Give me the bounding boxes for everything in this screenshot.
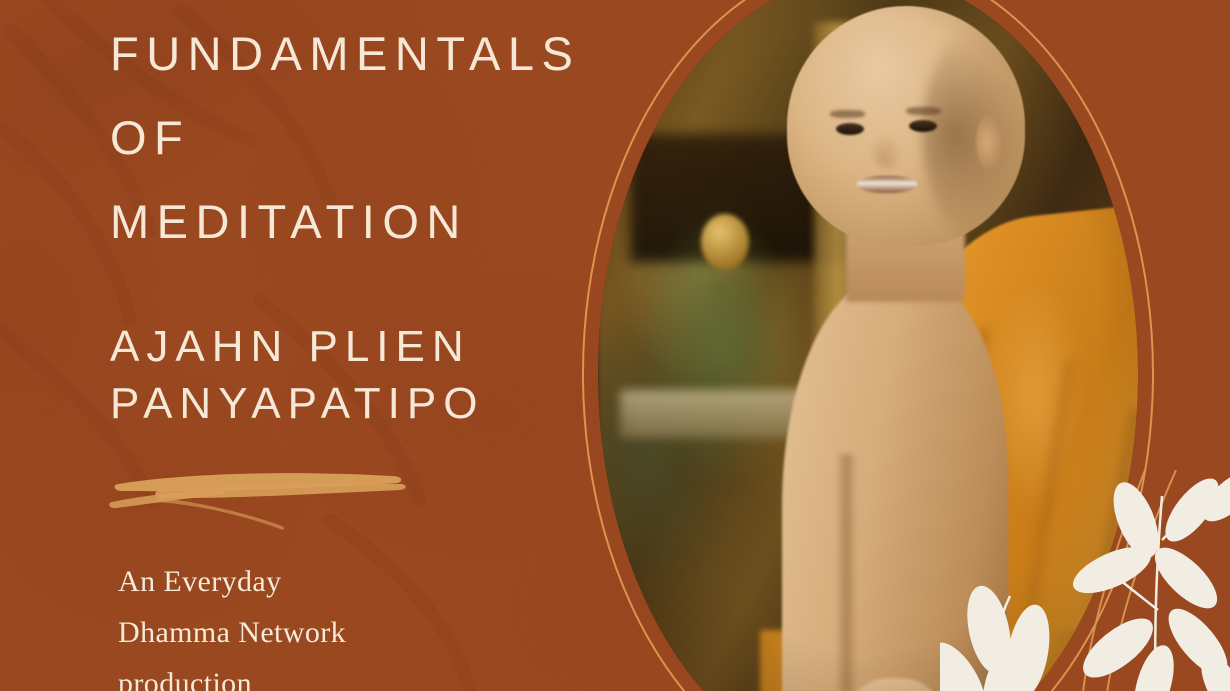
speaker-name: AJAHN PLIEN PANYAPATIPO [110,318,730,432]
leaf-branch-icon [940,582,1056,691]
brush-stroke-underline-icon [100,458,440,530]
page-title: FUNDAMENTALS OF MEDITATION [110,12,750,264]
credit-text: An Everyday Dhamma Network production [118,556,538,691]
poster-canvas: FUNDAMENTALS OF MEDITATION AJAHN PLIEN P… [0,0,1230,691]
leaf-branch-decoration [940,470,1230,691]
leaf-branch-icon [1067,470,1230,691]
